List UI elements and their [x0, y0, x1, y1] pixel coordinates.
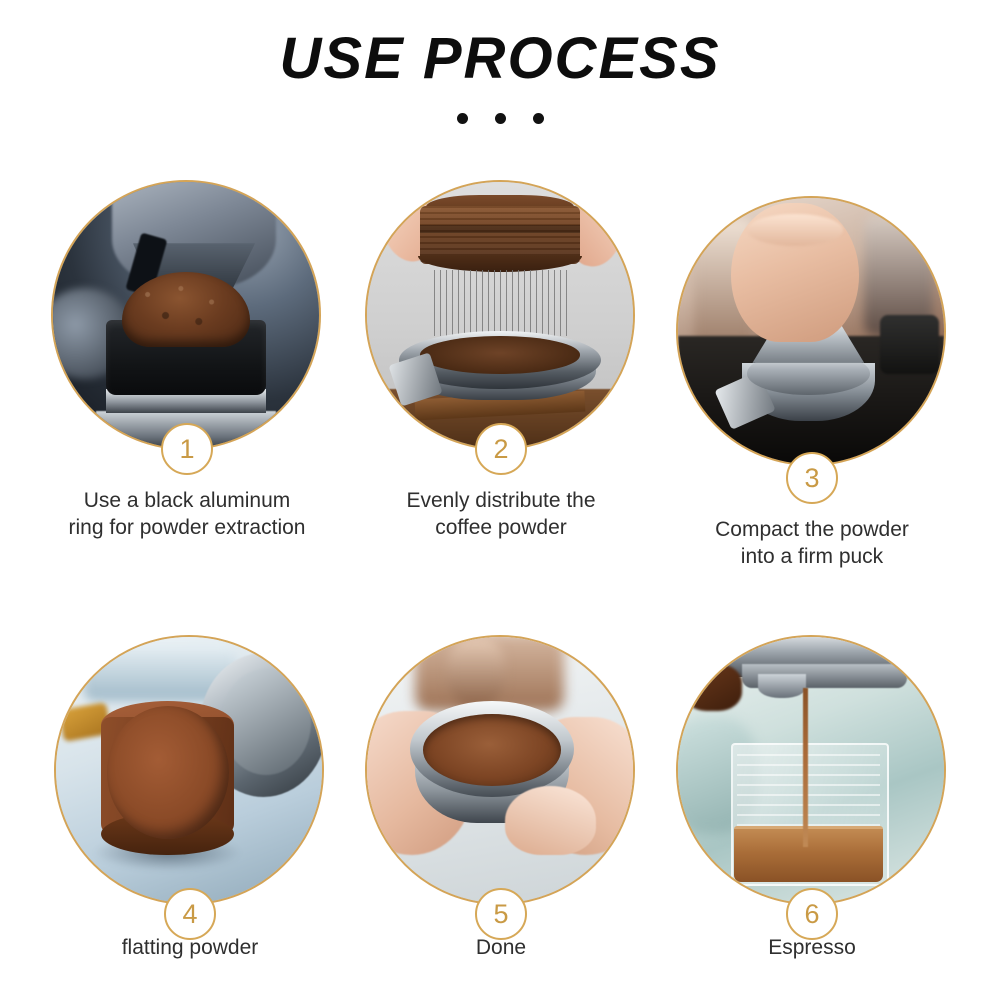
step-3: 3 Compact the powder into a firm puck — [676, 196, 948, 466]
step-6-number: 6 — [804, 899, 819, 930]
step-4: 4 flatting powder — [54, 635, 326, 905]
separator-dot-3 — [533, 113, 544, 124]
step-1-number-badge: 1 — [161, 423, 213, 475]
step-2-caption-line-1: Evenly distribute the — [345, 488, 657, 515]
step-2-number: 2 — [493, 434, 508, 465]
step-5: 5 Done — [365, 635, 637, 905]
step-2-caption: Evenly distribute the coffee powder — [345, 488, 657, 542]
step-1-image-circle — [51, 180, 321, 450]
step-2: 2 Evenly distribute the coffee powder — [365, 180, 637, 450]
step-1-caption-line-1: Use a black aluminum — [31, 488, 343, 515]
step-1: 1 Use a black aluminum ring for powder e… — [51, 180, 323, 450]
step-2-image-circle — [365, 180, 635, 450]
step-5-image-circle — [365, 635, 635, 905]
use-process-infographic: USE PROCESS 1 Use a black aluminum — [0, 0, 1000, 1000]
step-5-photo — [367, 637, 633, 903]
page-title: USE PROCESS — [0, 30, 1000, 88]
step-5-number-badge: 5 — [475, 888, 527, 940]
step-6-photo — [678, 637, 944, 903]
step-3-caption: Compact the powder into a firm puck — [656, 517, 968, 571]
step-3-number: 3 — [804, 463, 819, 494]
step-4-number: 4 — [182, 899, 197, 930]
step-2-caption-line-2: coffee powder — [345, 515, 657, 542]
step-4-image-circle — [54, 635, 324, 905]
step-5-number: 5 — [493, 899, 508, 930]
step-1-number: 1 — [179, 434, 194, 465]
step-2-number-badge: 2 — [475, 423, 527, 475]
step-3-caption-line-2: into a firm puck — [656, 544, 968, 571]
step-3-number-badge: 3 — [786, 452, 838, 504]
separator-dot-2 — [495, 113, 506, 124]
step-4-number-badge: 4 — [164, 888, 216, 940]
step-6-image-circle — [676, 635, 946, 905]
step-3-photo — [678, 198, 944, 464]
step-4-photo — [56, 637, 322, 903]
step-6: 6 Espresso — [676, 635, 948, 905]
step-1-caption-line-2: ring for powder extraction — [31, 515, 343, 542]
title-dot-separator — [0, 113, 1000, 124]
step-2-photo — [367, 182, 633, 448]
step-3-caption-line-1: Compact the powder — [656, 517, 968, 544]
step-1-photo — [53, 182, 319, 448]
step-3-image-circle — [676, 196, 946, 466]
separator-dot-1 — [457, 113, 468, 124]
step-1-caption: Use a black aluminum ring for powder ext… — [31, 488, 343, 542]
step-6-number-badge: 6 — [786, 888, 838, 940]
